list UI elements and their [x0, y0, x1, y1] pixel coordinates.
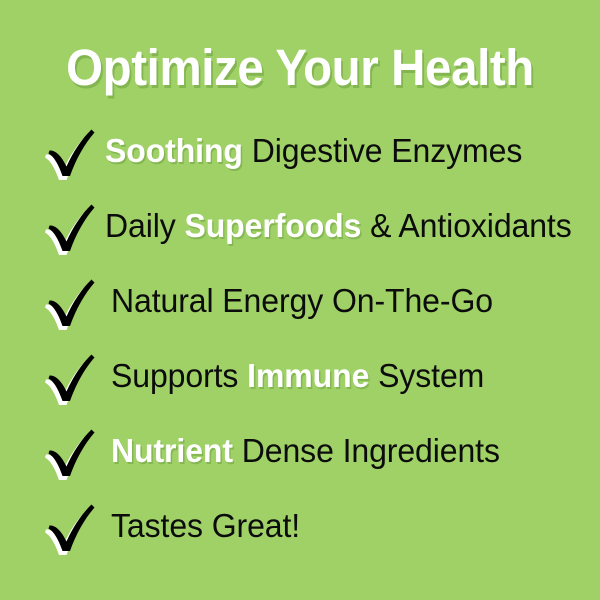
list-item: Daily Superfoods & Antioxidants [0, 188, 600, 263]
list-item-label: Natural Energy On-The-Go [111, 282, 585, 320]
plain-text: Supports [111, 357, 247, 394]
checkmark-icon [46, 347, 98, 405]
list-item: Tastes Great! [0, 488, 600, 563]
emphasis-word: Nutrient [111, 432, 233, 469]
plain-text: Digestive Enzymes [243, 132, 522, 169]
list-item-label: Daily Superfoods & Antioxidants [105, 207, 585, 245]
list-item: Natural Energy On-The-Go [0, 263, 600, 338]
checkmark-icon [46, 272, 98, 330]
emphasis-word: Immune [247, 357, 369, 394]
plain-text: & Antioxidants [361, 207, 571, 244]
page-title: Optimize Your Health [21, 40, 579, 96]
emphasis-word: Superfoods [184, 207, 361, 244]
plain-text: System [369, 357, 484, 394]
plain-text: Tastes Great! [111, 507, 300, 544]
list-item-label: Supports Immune System [111, 357, 585, 395]
emphasis-word: Soothing [105, 132, 243, 169]
list-item: Nutrient Dense Ingredients [0, 413, 600, 488]
checkmark-icon [46, 422, 98, 480]
checkmark-icon [46, 122, 98, 180]
list-item-label: Nutrient Dense Ingredients [111, 432, 585, 470]
checkmark-icon [46, 197, 98, 255]
list-item-label: Tastes Great! [111, 507, 585, 545]
benefits-poster: Optimize Your Health Soothing Digestive … [0, 0, 600, 600]
list-item: Supports Immune System [0, 338, 600, 413]
plain-text: Natural Energy On-The-Go [111, 282, 493, 319]
plain-text: Daily [105, 207, 184, 244]
benefit-list: Soothing Digestive EnzymesDaily Superfoo… [0, 113, 600, 563]
list-item: Soothing Digestive Enzymes [0, 113, 600, 188]
list-item-label: Soothing Digestive Enzymes [105, 132, 585, 170]
checkmark-icon [46, 497, 98, 555]
plain-text: Dense Ingredients [233, 432, 500, 469]
